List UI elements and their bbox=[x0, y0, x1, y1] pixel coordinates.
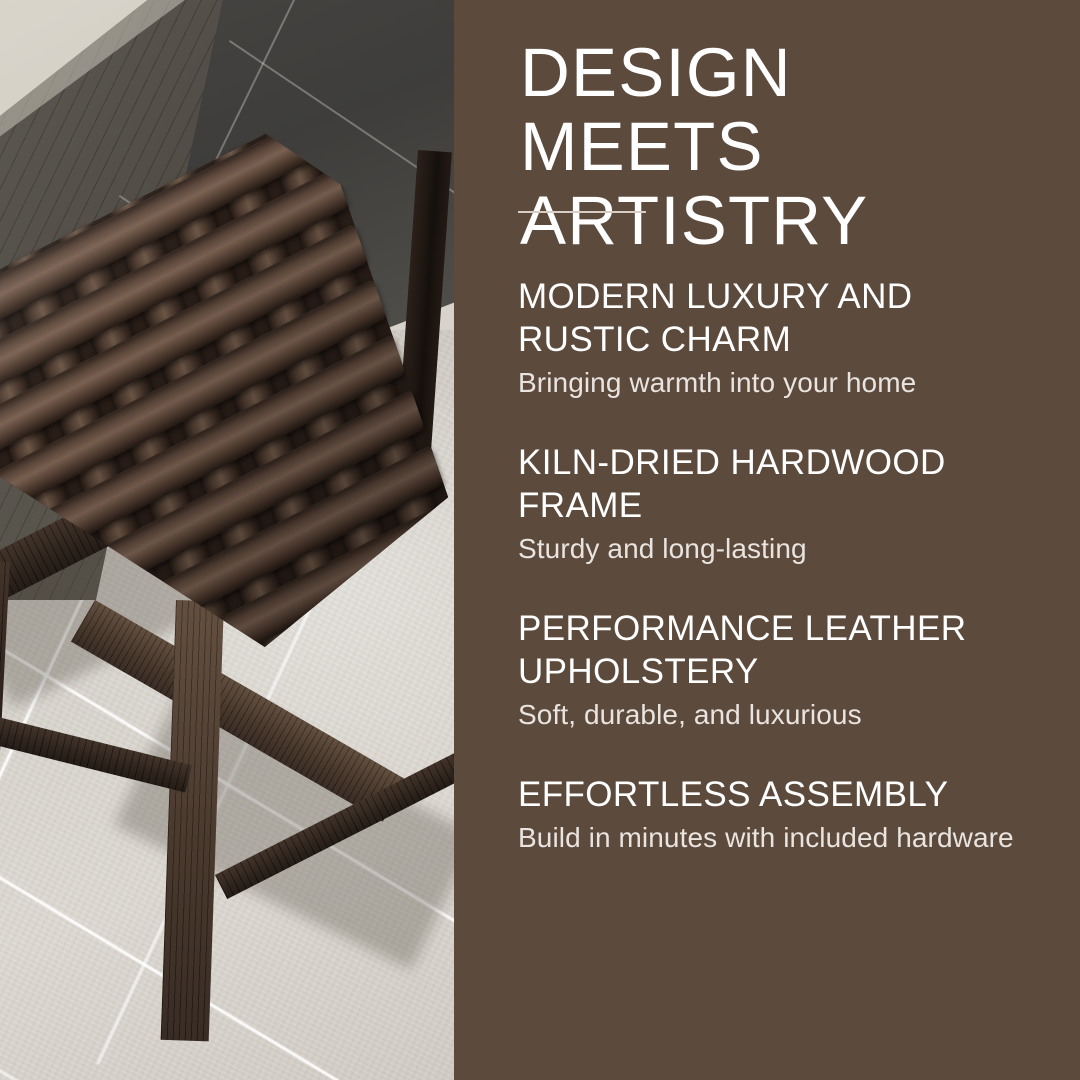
feature-heading: EFFORTLESS ASSEMBLY bbox=[518, 773, 1048, 816]
feature-subtitle: Sturdy and long-lasting bbox=[518, 531, 1048, 566]
feature-item: MODERN LUXURY AND RUSTIC CHARM Bringing … bbox=[518, 275, 1048, 400]
feature-subtitle: Build in minutes with included hardware bbox=[518, 820, 1048, 855]
feature-item: EFFORTLESS ASSEMBLY Build in minutes wit… bbox=[518, 773, 1048, 855]
feature-heading: PERFORMANCE LEATHER UPHOLSTERY bbox=[518, 607, 1048, 693]
feature-heading: KILN-DRIED HARDWOOD FRAME bbox=[518, 441, 1048, 527]
feature-list: MODERN LUXURY AND RUSTIC CHARM Bringing … bbox=[518, 275, 1048, 855]
feature-heading: MODERN LUXURY AND RUSTIC CHARM bbox=[518, 275, 1048, 361]
feature-subtitle: Soft, durable, and luxurious bbox=[518, 697, 1048, 732]
title-divider bbox=[518, 211, 646, 213]
feature-item: KILN-DRIED HARDWOOD FRAME Sturdy and lon… bbox=[518, 441, 1048, 566]
product-feature-infographic: DESIGN MEETS ARTISTRY MODERN LUXURY AND … bbox=[0, 0, 1080, 1080]
product-photo-panel bbox=[0, 0, 454, 1080]
feature-subtitle: Bringing warmth into your home bbox=[518, 365, 1048, 400]
feature-item: PERFORMANCE LEATHER UPHOLSTERY Soft, dur… bbox=[518, 607, 1048, 732]
page-title: DESIGN MEETS ARTISTRY bbox=[520, 36, 1030, 258]
marketing-text-panel: DESIGN MEETS ARTISTRY MODERN LUXURY AND … bbox=[454, 0, 1080, 1080]
